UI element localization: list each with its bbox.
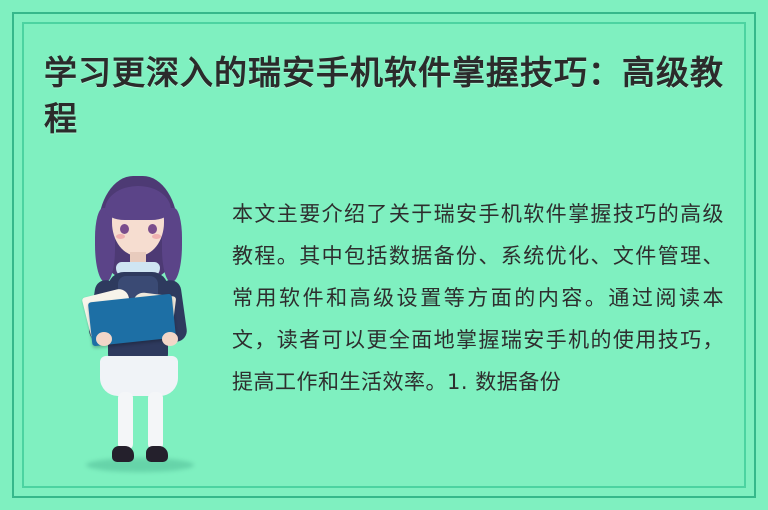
hand-right [162,332,178,346]
skirt [100,356,178,396]
figure-shadow [86,458,194,472]
blush-right [152,234,161,239]
article-paragraph: 本文主要介绍了关于瑞安手机软件掌握技巧的高级教程。其中包括数据备份、系统优化、文… [232,193,724,403]
hand-left [96,332,112,346]
article-body-area: 本文主要介绍了关于瑞安手机软件掌握技巧的高级教程。其中包括数据备份、系统优化、文… [44,172,724,466]
anime-girl-illustration [62,172,222,492]
blush-left [116,234,125,239]
hair-side-right [162,208,182,282]
card-content: 学习更深入的瑞安手机软件掌握技巧：高级教程 [44,44,724,466]
eye-left [120,224,129,234]
shoe-right [146,446,168,462]
page-title: 学习更深入的瑞安手机软件掌握技巧：高级教程 [44,50,724,141]
leg-right [148,392,163,450]
leg-left [118,392,133,450]
eye-right [148,224,157,234]
shoe-left [112,446,134,462]
article-card: 学习更深入的瑞安手机软件掌握技巧：高级教程 [0,0,768,510]
